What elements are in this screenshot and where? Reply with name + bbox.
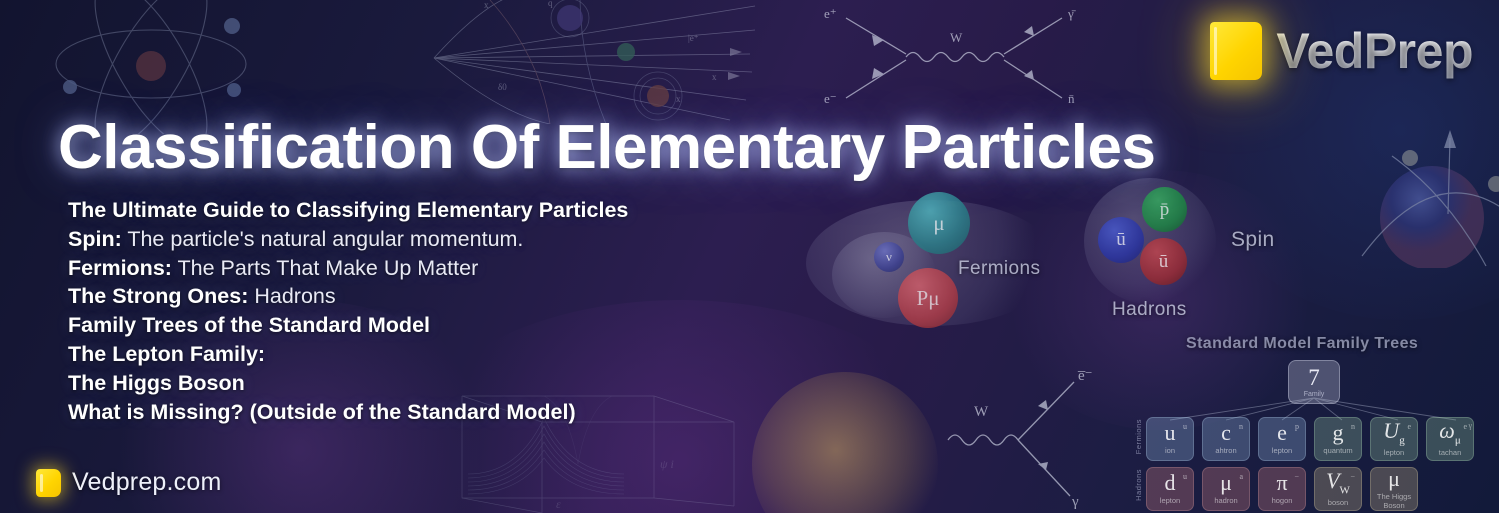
fermion-card-row: Fermions u u ion n c ahtron p e lepton n… — [1146, 417, 1474, 461]
bullet-line-3-rest: The Parts That Make Up Matter — [172, 256, 478, 280]
particle-card-u-superscript: u — [1183, 422, 1187, 431]
particle-card-mu[interactable]: a μ hadron — [1202, 467, 1250, 511]
bullet-line-4: The Strong Ones: Hadrons — [68, 282, 628, 311]
particle-card-higgs-symbol: μ — [1388, 468, 1400, 490]
particle-card-vw-symbol: VW — [1326, 470, 1350, 496]
family-tree-root-node: 7 Family — [1288, 360, 1340, 404]
standard-model-grid: Fermions u u ion n c ahtron p e lepton n… — [1146, 417, 1474, 513]
bullet-list: The Ultimate Guide to Classifying Elemen… — [68, 196, 628, 426]
bullet-line-2: Spin: The particle's natural angular mom… — [68, 225, 628, 254]
book-icon — [36, 469, 61, 497]
bullet-line-8: What is Missing? (Outside of the Standar… — [68, 398, 628, 427]
particle-card-d-sublabel: lepton — [1160, 497, 1180, 506]
particle-card-e-symbol: e — [1277, 422, 1287, 444]
hadron-quark-u-red: ū — [1140, 238, 1187, 285]
particle-card-ug-subscript: g — [1399, 434, 1405, 446]
particle-card-pi-superscript: − — [1294, 472, 1299, 481]
particle-card-mu-sublabel: hadron — [1214, 497, 1237, 506]
particle-card-vw[interactable]: − VW boson — [1314, 467, 1362, 511]
particle-card-ug-sublabel: lepton — [1384, 449, 1404, 458]
fermion-sphere-nu: ν — [874, 242, 904, 272]
particle-card-ug-symbol: Ug — [1383, 420, 1404, 446]
hadron-card-row: Hadrons u d lepton a μ hadron − π hogon … — [1146, 467, 1474, 511]
bullet-line-7: The Higgs Boson — [68, 369, 628, 398]
particle-card-vw-symbol-main: V — [1326, 468, 1339, 493]
particle-card-u-sublabel: ion — [1165, 447, 1175, 456]
fermion-sphere-mu: μ — [908, 192, 970, 254]
bullet-line-3: Fermions: The Parts That Make Up Matter — [68, 254, 628, 283]
particle-card-d[interactable]: u d lepton — [1146, 467, 1194, 511]
particle-card-c-symbol: c — [1221, 422, 1231, 444]
hadron-quark-u-blue: ū — [1098, 217, 1144, 263]
bullet-line-6: The Lepton Family: — [68, 340, 628, 369]
book-icon — [1210, 22, 1262, 80]
bullet-line-2-rest: The particle's natural angular momentum. — [122, 227, 524, 251]
particle-card-d-symbol: d — [1165, 472, 1176, 494]
particle-card-ug-symbol-main: U — [1383, 418, 1399, 443]
particle-card-ug[interactable]: e Ug lepton — [1370, 417, 1418, 461]
particle-card-c[interactable]: n c ahtron — [1202, 417, 1250, 461]
row-label-fermions: Fermions — [1134, 419, 1143, 454]
particle-card-higgs[interactable]: μ The Higgs Boson — [1370, 467, 1418, 511]
particle-card-ug-superscript: e — [1407, 422, 1411, 431]
particle-card-u[interactable]: u u ion — [1146, 417, 1194, 461]
page-title: Classification Of Elementary Particles — [58, 112, 1155, 183]
particle-card-g[interactable]: n g quantum — [1314, 417, 1362, 461]
family-tree-root-sublabel: Family — [1304, 391, 1325, 398]
particle-card-e-superscript: p — [1295, 422, 1299, 431]
fermion-sphere-pmu: Pμ — [898, 268, 958, 328]
particle-card-e[interactable]: p e lepton — [1258, 417, 1306, 461]
bullet-line-1-bold: The Ultimate Guide to Classifying Elemen… — [68, 198, 628, 222]
particle-card-omega[interactable]: e γ ωμ tachan — [1426, 417, 1474, 461]
bullet-line-1: The Ultimate Guide to Classifying Elemen… — [68, 196, 628, 225]
particle-card-higgs-sublabel: The Higgs Boson — [1371, 493, 1417, 510]
brand-name: VedPrep — [1276, 22, 1473, 80]
particle-card-g-symbol: g — [1333, 422, 1344, 444]
particle-card-omega-sublabel: tachan — [1439, 449, 1462, 458]
particle-card-c-sublabel: ahtron — [1215, 447, 1236, 456]
particle-card-vw-sublabel: boson — [1328, 499, 1348, 508]
row-label-hadrons: Hadrons — [1134, 469, 1143, 501]
footer-website-label: Vedprep.com — [72, 468, 222, 497]
particle-card-c-superscript: n — [1239, 422, 1243, 431]
family-tree-root-symbol: 7 — [1308, 366, 1320, 389]
particle-card-omega-superscript: e — [1463, 422, 1467, 431]
brand-logo[interactable]: VedPrep — [1210, 22, 1473, 80]
bullet-line-5: Family Trees of the Standard Model — [68, 311, 628, 340]
bullet-line-3-bold: Fermions: — [68, 256, 172, 280]
bullet-line-4-bold: The Strong Ones: — [68, 284, 248, 308]
particle-card-pi-symbol: π — [1276, 472, 1287, 494]
particle-card-vw-superscript: − — [1350, 472, 1355, 481]
particle-card-u-symbol: u — [1165, 422, 1176, 444]
footer-brand[interactable]: Vedprep.com — [36, 468, 222, 497]
bullet-line-2-bold: Spin: — [68, 227, 122, 251]
particle-card-pi-sublabel: hogon — [1272, 497, 1293, 506]
particle-card-g-sublabel: quantum — [1323, 447, 1352, 456]
particle-card-pi[interactable]: − π hogon — [1258, 467, 1306, 511]
particle-card-omega-superscript2: γ — [1468, 421, 1472, 430]
particle-card-mu-superscript: a — [1239, 472, 1243, 481]
particle-card-g-superscript: n — [1351, 422, 1355, 431]
particle-card-omega-symbol: ωμ — [1439, 420, 1460, 446]
particle-card-vw-subscript: W — [1340, 484, 1350, 496]
hadron-quark-p-green: p̄ — [1142, 187, 1187, 232]
particle-card-mu-symbol: μ — [1220, 472, 1232, 494]
banner: x q |e⁺ x x δ0 — [0, 0, 1499, 513]
particle-card-omega-symbol-main: ω — [1439, 418, 1455, 443]
particle-card-omega-subscript: μ — [1455, 434, 1461, 446]
particle-card-d-superscript: u — [1183, 472, 1187, 481]
bullet-line-4-rest: Hadrons — [248, 284, 335, 308]
particle-card-e-sublabel: lepton — [1272, 447, 1292, 456]
